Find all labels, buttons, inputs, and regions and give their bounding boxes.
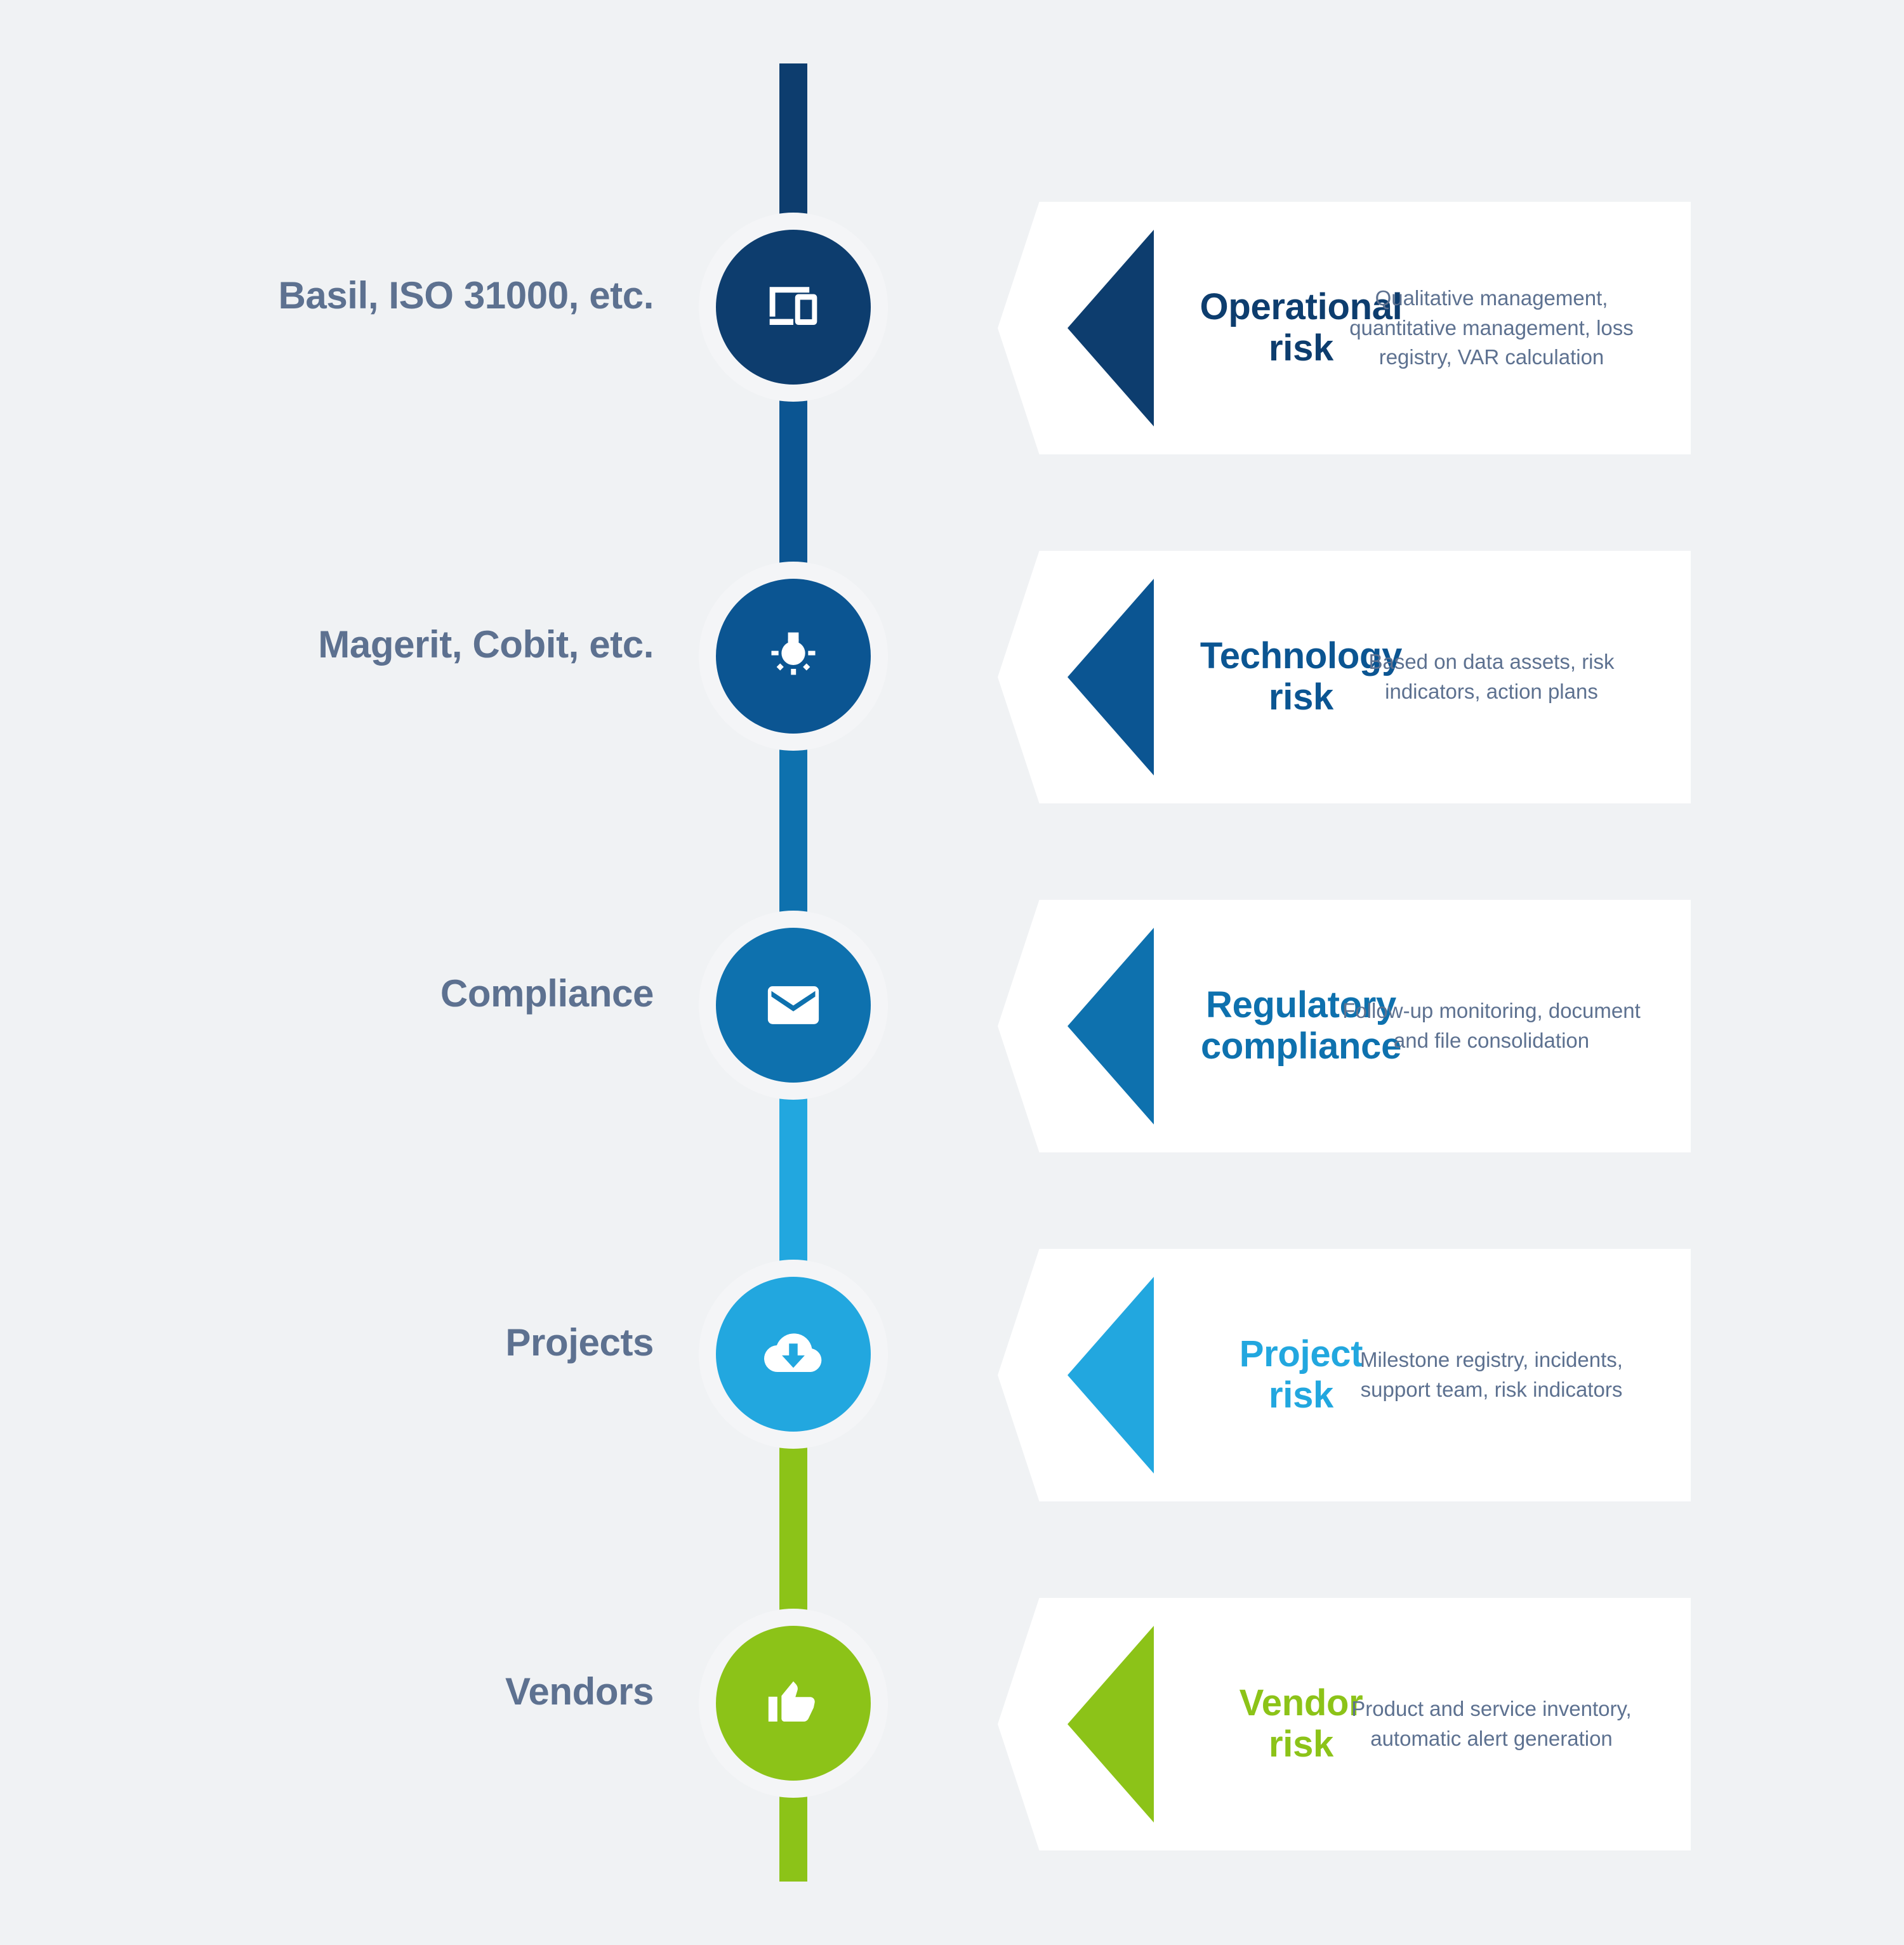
lightbulb-icon [716,579,871,734]
thumbs-up-icon [716,1626,871,1781]
card-description-text: Follow-up monitoring, document and file … [1339,996,1644,1056]
timeline-node[interactable] [699,213,888,402]
card-description: Follow-up monitoring, document and file … [1339,928,1644,1124]
timeline-node[interactable] [699,1609,888,1798]
card-description: Qualitative management, quantitative man… [1339,230,1644,426]
infographic-canvas: Basil, ISO 31000, etc. Operational risk … [0,0,1904,1945]
card-description: Based on data assets, risk indicators, a… [1339,579,1644,775]
card-description-text: Qualitative management, quantitative man… [1339,284,1644,373]
row-left-label: Magerit, Cobit, etc. [0,470,673,819]
timeline-row: Magerit, Cobit, etc. Technology risk Bas… [0,470,1904,819]
timeline-row: Basil, ISO 31000, etc. Operational risk … [0,121,1904,470]
row-left-label: Projects [0,1168,673,1517]
card-description-text: Product and service inventory, automatic… [1339,1694,1644,1754]
timeline-node[interactable] [699,1260,888,1449]
timeline-node[interactable] [699,911,888,1100]
card-description: Product and service inventory, automatic… [1339,1626,1644,1823]
card-description: Milestone registry, incidents, support t… [1339,1277,1644,1474]
envelope-icon [716,928,871,1083]
card-description-text: Based on data assets, risk indicators, a… [1339,647,1644,707]
row-left-label: Vendors [0,1517,673,1866]
row-left-label: Compliance [0,819,673,1168]
timeline-node[interactable] [699,562,888,751]
timeline-row: Compliance Regulatory compliance Follow-… [0,819,1904,1168]
devices-icon [716,230,871,385]
cloud-download-icon [716,1277,871,1432]
row-left-label: Basil, ISO 31000, etc. [0,121,673,470]
timeline-row: Projects Project risk Milestone registry… [0,1168,1904,1517]
timeline-row: Vendors Vendor risk Product and service … [0,1517,1904,1866]
card-description-text: Milestone registry, incidents, support t… [1339,1345,1644,1405]
